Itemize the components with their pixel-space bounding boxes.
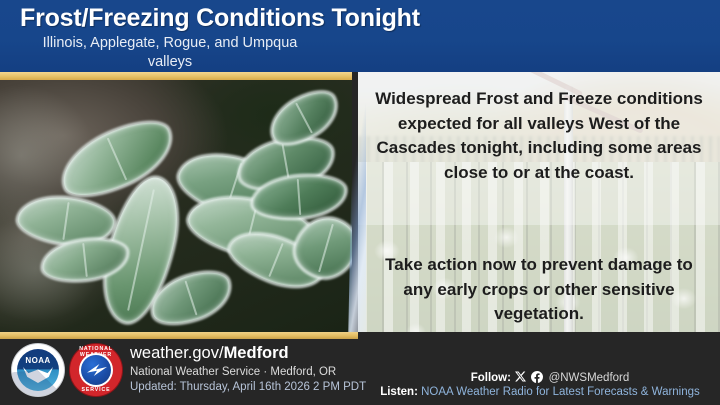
website-url-prefix: weather.gov/ xyxy=(130,344,224,362)
follow-label: Follow: xyxy=(471,372,511,384)
follow-line: Follow: @NWSMedford xyxy=(400,371,700,384)
website-url[interactable]: weather.gov/Medford xyxy=(130,344,289,363)
message-paragraph-2: Take action now to prevent damage to any… xyxy=(374,253,704,327)
footer-gold-divider xyxy=(0,332,358,339)
frost-leaves-photo xyxy=(0,80,352,332)
weather-graphic: Widespread Frost and Freeze conditions e… xyxy=(0,0,720,405)
facebook-icon[interactable] xyxy=(531,371,543,383)
message-panel: Widespread Frost and Freeze conditions e… xyxy=(358,45,720,370)
header-gold-divider xyxy=(0,72,352,80)
header-banner: Frost/Freezing Conditions Tonight Illino… xyxy=(0,0,720,72)
updated-timestamp: Updated: Thursday, April 16th 2026 2 PM … xyxy=(130,381,366,393)
website-url-office: Medford xyxy=(224,344,289,362)
message-text-group: Widespread Frost and Freeze conditions e… xyxy=(358,50,720,370)
nws-logo-bottom-text: SERVICE xyxy=(70,387,122,393)
x-twitter-icon[interactable] xyxy=(515,371,526,382)
listen-text: NOAA Weather Radio for Latest Forecasts … xyxy=(421,386,700,398)
message-paragraph-1: Widespread Frost and Freeze conditions e… xyxy=(374,87,704,185)
page-title: Frost/Freezing Conditions Tonight xyxy=(20,4,580,33)
page-subtitle: Illinois, Applegate, Rogue, and Umpqua v… xyxy=(20,34,320,72)
noaa-logo-icon: NOAA xyxy=(12,344,64,396)
social-handle[interactable]: @NWSMedford xyxy=(549,372,630,384)
listen-label: Listen: xyxy=(380,386,418,398)
nws-logo-icon: NATIONAL WEATHER SERVICE xyxy=(70,344,122,396)
listen-line: Listen: NOAA Weather Radio for Latest Fo… xyxy=(360,386,720,398)
nws-lightning-glyph xyxy=(87,364,107,376)
agency-line: National Weather Service · Medford, OR xyxy=(130,366,336,378)
